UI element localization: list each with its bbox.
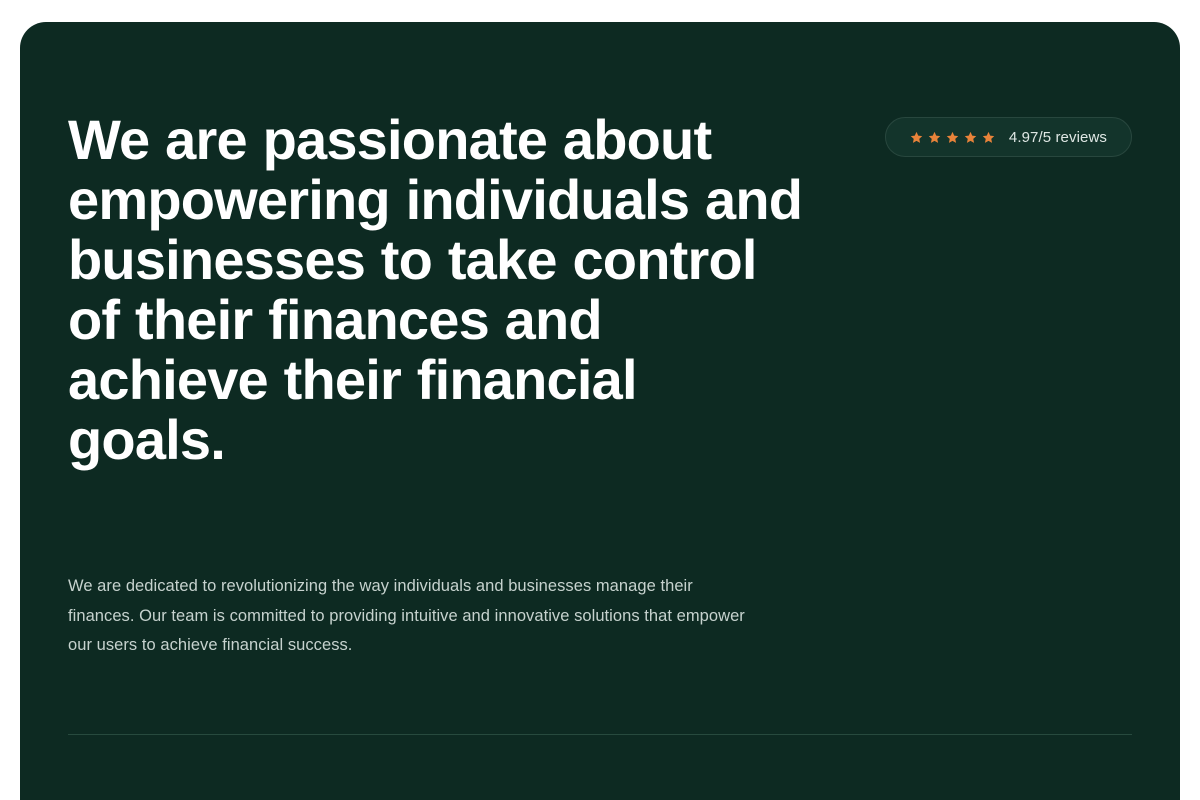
rating-badge-label: 4.97/5 reviews [1009, 130, 1107, 145]
star-icon [928, 131, 941, 144]
hero-card: 4.97/5 reviews We are passionate about e… [20, 22, 1180, 800]
hero-heading: We are passionate about empowering indiv… [68, 110, 808, 470]
section-divider [68, 734, 1132, 735]
star-icon [982, 131, 995, 144]
star-rating-group [910, 131, 995, 144]
page-root: 4.97/5 reviews We are passionate about e… [0, 0, 1200, 800]
rating-badge[interactable]: 4.97/5 reviews [885, 117, 1132, 157]
star-icon [946, 131, 959, 144]
hero-paragraph: We are dedicated to revolutionizing the … [68, 572, 748, 661]
hero-card-inner: 4.97/5 reviews We are passionate about e… [20, 22, 1180, 800]
star-icon [910, 131, 923, 144]
star-icon [964, 131, 977, 144]
